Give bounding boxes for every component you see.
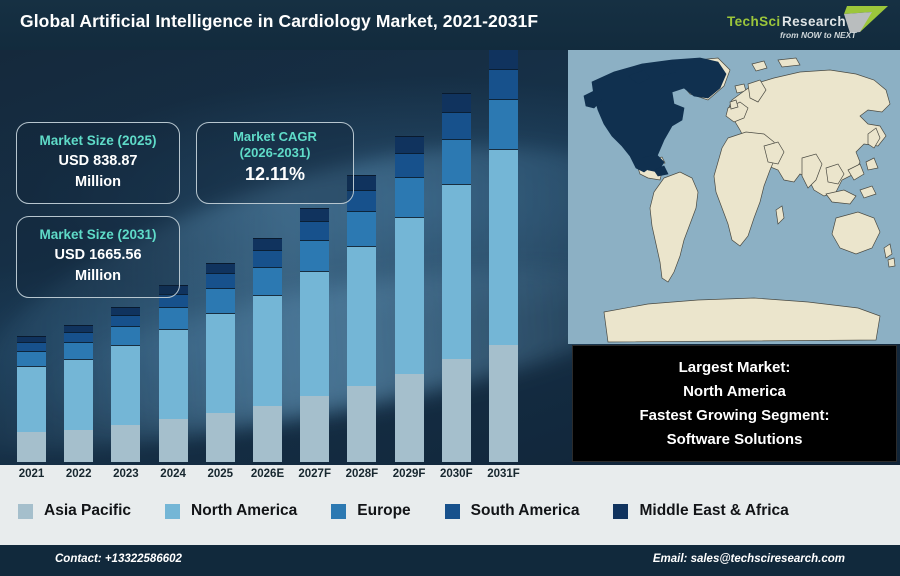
legend-item-asia-pacific[interactable]: Asia Pacific: [18, 502, 131, 520]
bar-segment-middle-east-africa[interactable]: [300, 208, 329, 221]
bar-segment-north-america[interactable]: [395, 217, 424, 374]
bar-segment-north-america[interactable]: [206, 313, 235, 413]
bar-segment-middle-east-africa[interactable]: [442, 93, 471, 112]
bar-segment-south-america[interactable]: [17, 342, 46, 351]
bar-segment-north-america[interactable]: [489, 149, 518, 345]
bar-segment-asia-pacific[interactable]: [64, 430, 93, 462]
bar-segment-asia-pacific[interactable]: [17, 432, 46, 462]
bar-segment-europe[interactable]: [253, 267, 282, 295]
infographic-root: Global Artificial Intelligence in Cardio…: [0, 0, 900, 576]
footer-contact: Contact: +13322586602: [55, 553, 182, 565]
legend-swatch-icon: [18, 504, 33, 519]
bar-segment-europe[interactable]: [442, 139, 471, 184]
bar-2028F[interactable]: [347, 175, 376, 462]
bar-segment-middle-east-africa[interactable]: [253, 238, 282, 250]
legend-item-europe[interactable]: Europe: [331, 502, 410, 520]
bar-segment-asia-pacific[interactable]: [442, 359, 471, 462]
bar-segment-asia-pacific[interactable]: [206, 413, 235, 462]
market-size-2025-label: Market Size (2025): [17, 132, 179, 150]
bar-2021[interactable]: [17, 336, 46, 462]
bar-segment-asia-pacific[interactable]: [489, 345, 518, 462]
page-title: Global Artificial Intelligence in Cardio…: [20, 11, 538, 32]
fastest-growing-segment-value: Software Solutions: [667, 428, 803, 451]
market-cagr-label-line2: (2026-2031): [197, 145, 353, 161]
bar-segment-middle-east-africa[interactable]: [395, 136, 424, 153]
bar-segment-south-america[interactable]: [206, 273, 235, 288]
key-highlights-callout: Largest Market: North America Fastest Gr…: [572, 345, 897, 462]
legend-item-middle-east-africa[interactable]: Middle East & Africa: [613, 502, 788, 520]
bar-segment-south-america[interactable]: [395, 153, 424, 177]
bar-segment-europe[interactable]: [395, 177, 424, 217]
bar-2022[interactable]: [64, 325, 93, 462]
world-map-icon: [568, 50, 900, 344]
legend-swatch-icon: [331, 504, 346, 519]
bar-segment-south-america[interactable]: [300, 221, 329, 240]
bar-segment-asia-pacific[interactable]: [395, 374, 424, 462]
legend-swatch-icon: [445, 504, 460, 519]
market-size-2025-unit: Million: [17, 172, 179, 193]
logo-icon: TechSci Research from NOW to NEXT: [722, 2, 892, 48]
market-size-2031-label: Market Size (2031): [17, 226, 179, 244]
fastest-growing-segment-label: Fastest Growing Segment:: [639, 404, 829, 427]
x-axis-tick-2031F: 2031F: [476, 468, 532, 480]
market-cagr-label-line1: Market CAGR: [197, 129, 353, 145]
world-map: [568, 50, 900, 344]
bar-segment-asia-pacific[interactable]: [347, 386, 376, 462]
bar-2026E[interactable]: [253, 238, 282, 462]
bar-2027F[interactable]: [300, 208, 329, 462]
bar-segment-asia-pacific[interactable]: [159, 419, 188, 462]
market-size-2025-value: USD 838.87: [17, 150, 179, 172]
svg-text:TechSci: TechSci: [727, 14, 781, 29]
svg-text:Research: Research: [782, 14, 846, 29]
bar-segment-asia-pacific[interactable]: [300, 396, 329, 462]
largest-market-label: Largest Market:: [679, 356, 791, 379]
legend-item-north-america[interactable]: North America: [165, 502, 297, 520]
bar-segment-south-america[interactable]: [111, 315, 140, 326]
bar-segment-north-america[interactable]: [159, 329, 188, 419]
legend-item-south-america[interactable]: South America: [445, 502, 580, 520]
techsci-research-logo: TechSci Research from NOW to NEXT: [722, 2, 892, 48]
bar-segment-north-america[interactable]: [111, 345, 140, 425]
bar-segment-europe[interactable]: [111, 326, 140, 345]
market-size-2025-card: Market Size (2025) USD 838.87 Million: [16, 122, 180, 204]
bar-segment-middle-east-africa[interactable]: [489, 50, 518, 69]
market-size-2031-value: USD 1665.56: [17, 244, 179, 266]
bar-2024[interactable]: [159, 285, 188, 462]
bar-segment-middle-east-africa[interactable]: [111, 307, 140, 315]
bar-2030F[interactable]: [442, 93, 471, 462]
bar-segment-south-america[interactable]: [442, 112, 471, 139]
chart-x-axis: 202120222023202420252026E2027F2028F2029F…: [0, 465, 568, 487]
bar-segment-europe[interactable]: [300, 240, 329, 271]
bar-segment-north-america[interactable]: [17, 366, 46, 432]
bar-segment-asia-pacific[interactable]: [111, 425, 140, 462]
largest-market-value: North America: [683, 380, 786, 403]
bar-segment-asia-pacific[interactable]: [253, 406, 282, 462]
legend-label: Europe: [357, 502, 410, 520]
bar-segment-south-america[interactable]: [489, 69, 518, 99]
bar-segment-north-america[interactable]: [64, 359, 93, 430]
bar-2025[interactable]: [206, 263, 235, 462]
bar-segment-europe[interactable]: [17, 351, 46, 366]
bar-2023[interactable]: [111, 307, 140, 462]
bar-segment-north-america[interactable]: [442, 184, 471, 359]
bar-segment-europe[interactable]: [64, 342, 93, 359]
footer-email: Email: sales@techsciresearch.com: [653, 553, 845, 565]
legend-label: South America: [471, 502, 580, 520]
bar-segment-middle-east-africa[interactable]: [64, 325, 93, 332]
market-cagr-card: Market CAGR (2026-2031) 12.11%: [196, 122, 354, 204]
bar-2031F[interactable]: [489, 50, 518, 462]
bar-segment-north-america[interactable]: [300, 271, 329, 396]
chart-legend: Asia PacificNorth AmericaEuropeSouth Ame…: [0, 487, 900, 535]
market-size-2031-card: Market Size (2031) USD 1665.56 Million: [16, 216, 180, 298]
bar-segment-north-america[interactable]: [347, 246, 376, 386]
header-bar: Global Artificial Intelligence in Cardio…: [0, 0, 900, 50]
bar-segment-middle-east-africa[interactable]: [206, 263, 235, 273]
footer-bar: Contact: +13322586602 Email: sales@techs…: [0, 545, 900, 576]
bar-segment-europe[interactable]: [489, 99, 518, 149]
bar-segment-europe[interactable]: [347, 211, 376, 246]
legend-label: Asia Pacific: [44, 502, 131, 520]
legend-label: Middle East & Africa: [639, 502, 788, 520]
bar-segment-north-america[interactable]: [253, 295, 282, 406]
bar-segment-south-america[interactable]: [64, 332, 93, 342]
bar-segment-europe[interactable]: [206, 288, 235, 313]
market-size-2031-unit: Million: [17, 266, 179, 287]
bar-2029F[interactable]: [395, 136, 424, 462]
svg-text:from NOW to NEXT: from NOW to NEXT: [780, 30, 857, 40]
legend-label: North America: [191, 502, 297, 520]
bar-segment-south-america[interactable]: [253, 250, 282, 267]
bar-segment-europe[interactable]: [159, 307, 188, 329]
legend-swatch-icon: [613, 504, 628, 519]
legend-swatch-icon: [165, 504, 180, 519]
market-cagr-value: 12.11%: [197, 161, 353, 187]
